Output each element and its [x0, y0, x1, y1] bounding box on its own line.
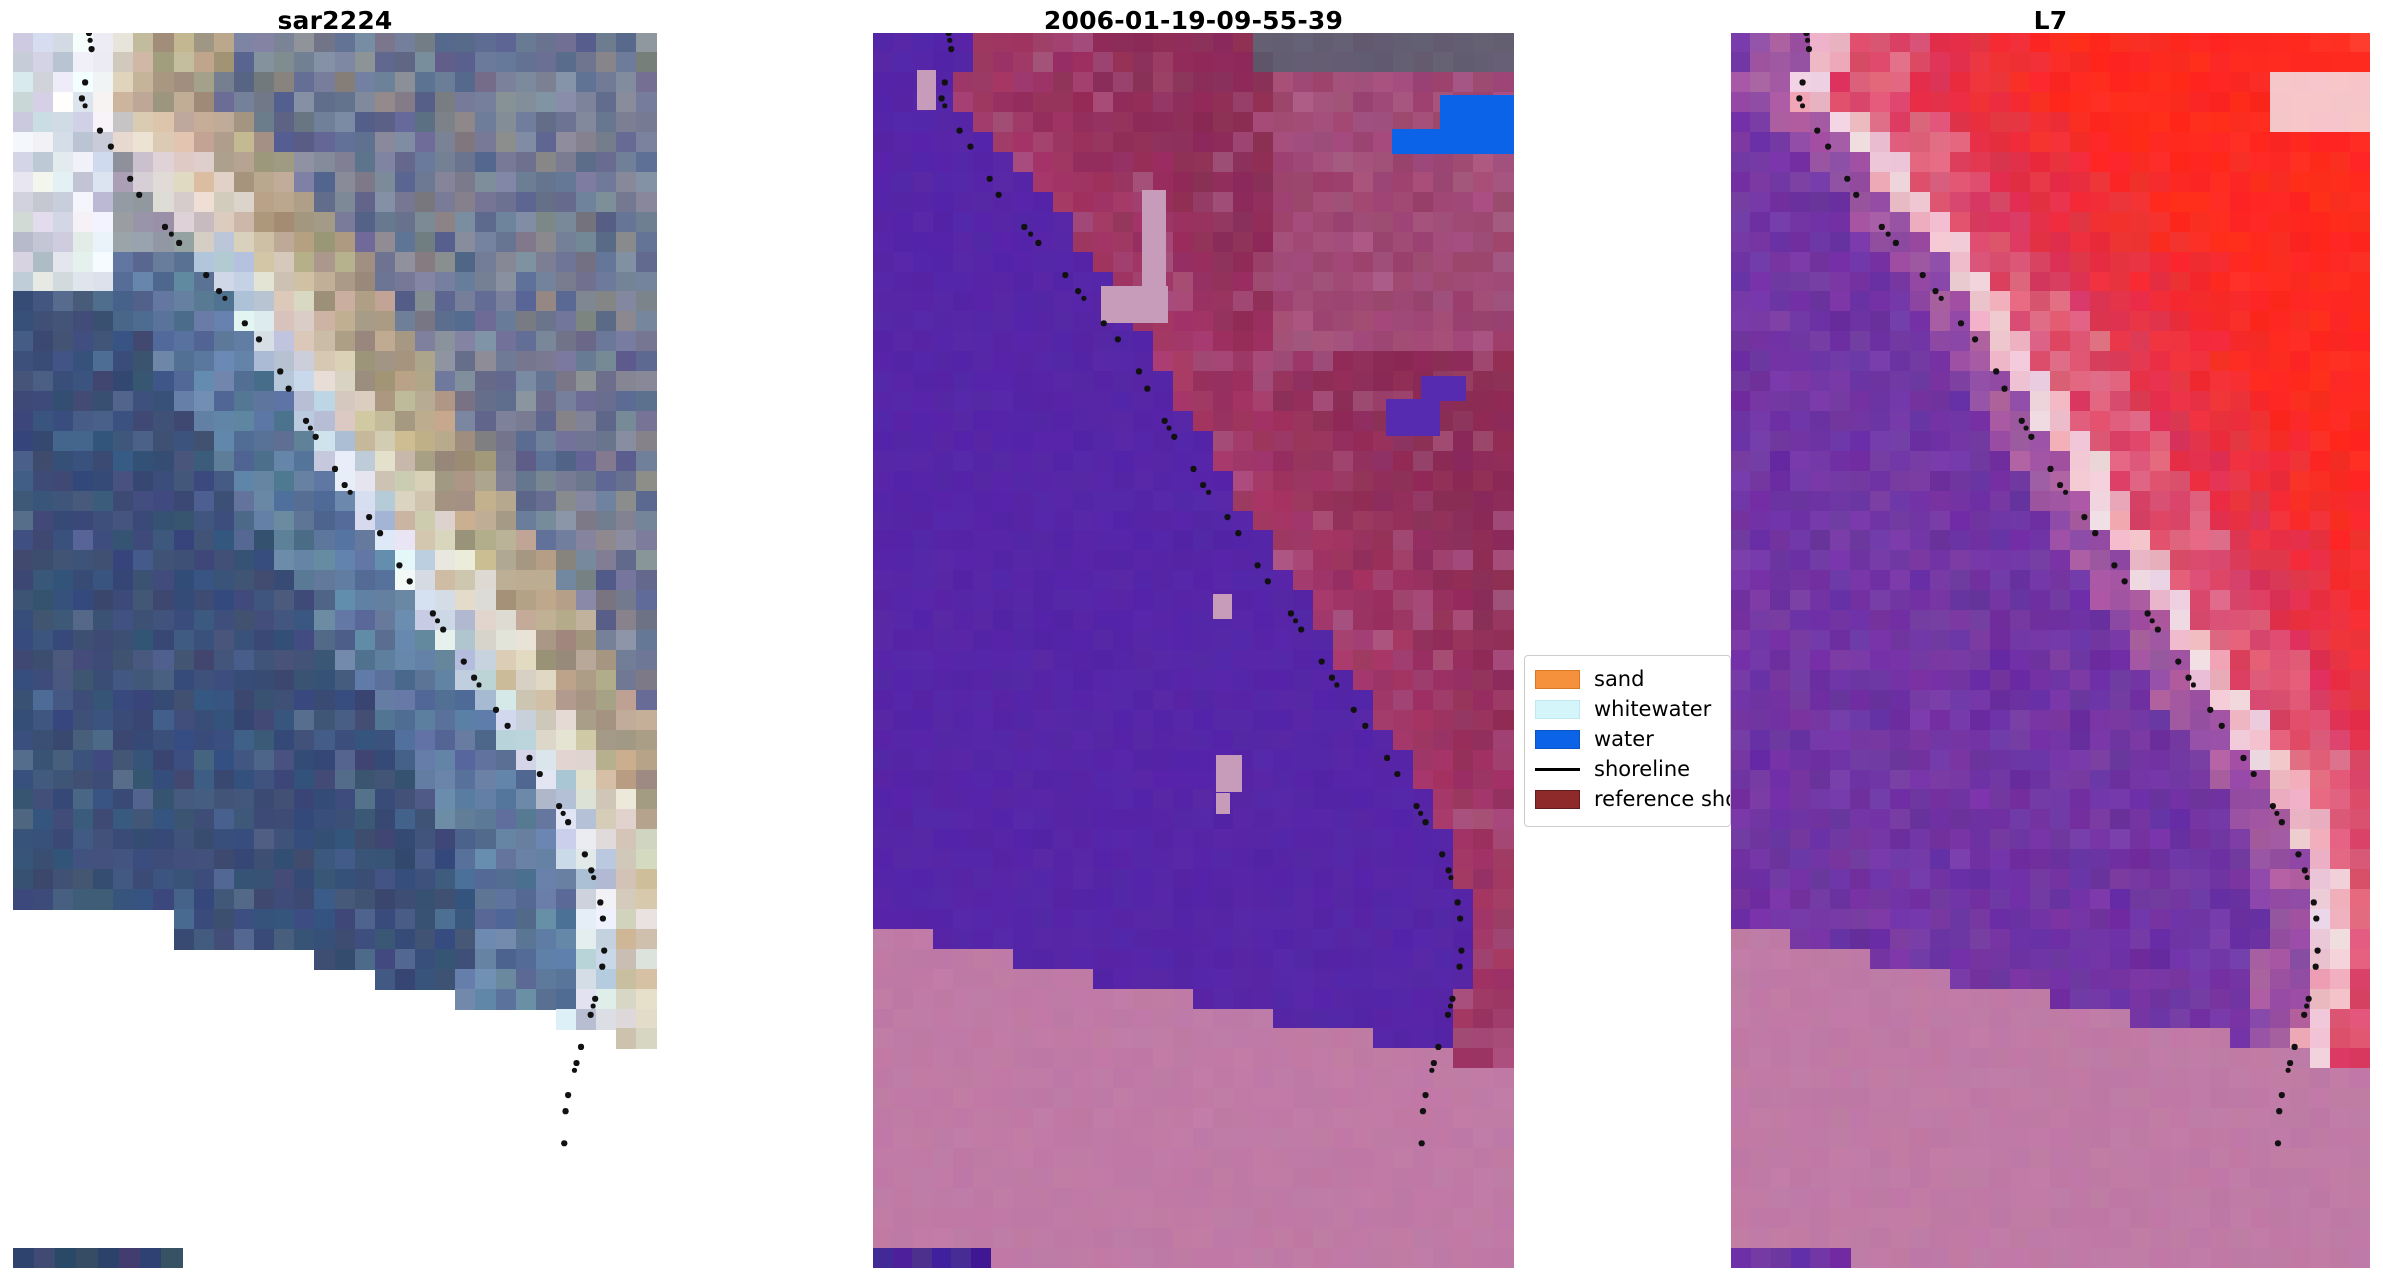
- legend-label: sand: [1594, 669, 1644, 690]
- legend-swatch-shoreline-icon: [1535, 768, 1580, 771]
- legend-swatch-water-icon: [1535, 730, 1580, 749]
- legend-label: shoreline: [1594, 759, 1690, 780]
- legend-label: whitewater: [1594, 699, 1711, 720]
- panel-title-sar: sar2224: [13, 8, 657, 33]
- bottom-strip-cell: [1731, 1248, 1752, 1268]
- l7-canvas[interactable]: [1731, 33, 2370, 1268]
- legend-item-shoreline: shoreline: [1535, 754, 1720, 784]
- bottom-strip-cell: [893, 1248, 914, 1268]
- bottom-strip-cell: [1751, 1248, 1772, 1268]
- bottom-strip-cell: [971, 1248, 992, 1268]
- sar-image-panel[interactable]: [13, 33, 657, 1268]
- panel-title-classified: 2006-01-19-09-55-39: [873, 8, 1514, 33]
- bottom-strip-cell: [1810, 1248, 1831, 1268]
- bottom-strip-cell: [13, 1248, 35, 1268]
- bottom-strip-cell: [140, 1248, 162, 1268]
- legend-swatch-reference-icon: [1535, 790, 1580, 809]
- l7-image-panel[interactable]: [1731, 33, 2370, 1268]
- legend-item-reference: reference shoreline: [1535, 784, 1720, 814]
- bottom-strip-cell: [34, 1248, 56, 1268]
- bottom-strip-cell: [161, 1248, 183, 1268]
- bottom-strip-cell: [932, 1248, 953, 1268]
- bottom-strip-cell: [76, 1248, 98, 1268]
- bottom-strip-cell: [55, 1248, 77, 1268]
- bottom-strip-cell: [873, 1248, 894, 1268]
- bottom-strip-cell: [912, 1248, 933, 1268]
- classified-canvas[interactable]: [873, 33, 1514, 1268]
- bottom-strip-cell: [951, 1248, 972, 1268]
- bottom-strip-cell: [119, 1248, 141, 1268]
- bottom-strip-l7-panel: [1731, 1248, 1850, 1268]
- panel-title-l7: L7: [1731, 8, 2370, 33]
- bottom-strip-cell: [1791, 1248, 1812, 1268]
- classified-image-panel[interactable]: [873, 33, 1514, 1268]
- legend-label: reference shoreline: [1594, 789, 1731, 810]
- legend-swatch-sand-icon: [1535, 670, 1580, 689]
- bottom-strip-cell: [1830, 1248, 1851, 1268]
- figure-root: sar2224 2006-01-19-09-55-39 L7 sandwhite…: [0, 0, 2383, 1283]
- legend-item-whitewater: whitewater: [1535, 694, 1720, 724]
- bottom-strip-cell: [1771, 1248, 1792, 1268]
- legend: sandwhitewaterwatershorelinereference sh…: [1524, 655, 1731, 827]
- bottom-strip-cell: [98, 1248, 120, 1268]
- legend-swatch-whitewater-icon: [1535, 700, 1580, 719]
- bottom-strip-sar-panel: [13, 1248, 182, 1268]
- legend-item-water: water: [1535, 724, 1720, 754]
- bottom-strip-classified-panel: [873, 1248, 990, 1268]
- sar-canvas[interactable]: [13, 33, 657, 1268]
- legend-label: water: [1594, 729, 1654, 750]
- legend-item-sand: sand: [1535, 664, 1720, 694]
